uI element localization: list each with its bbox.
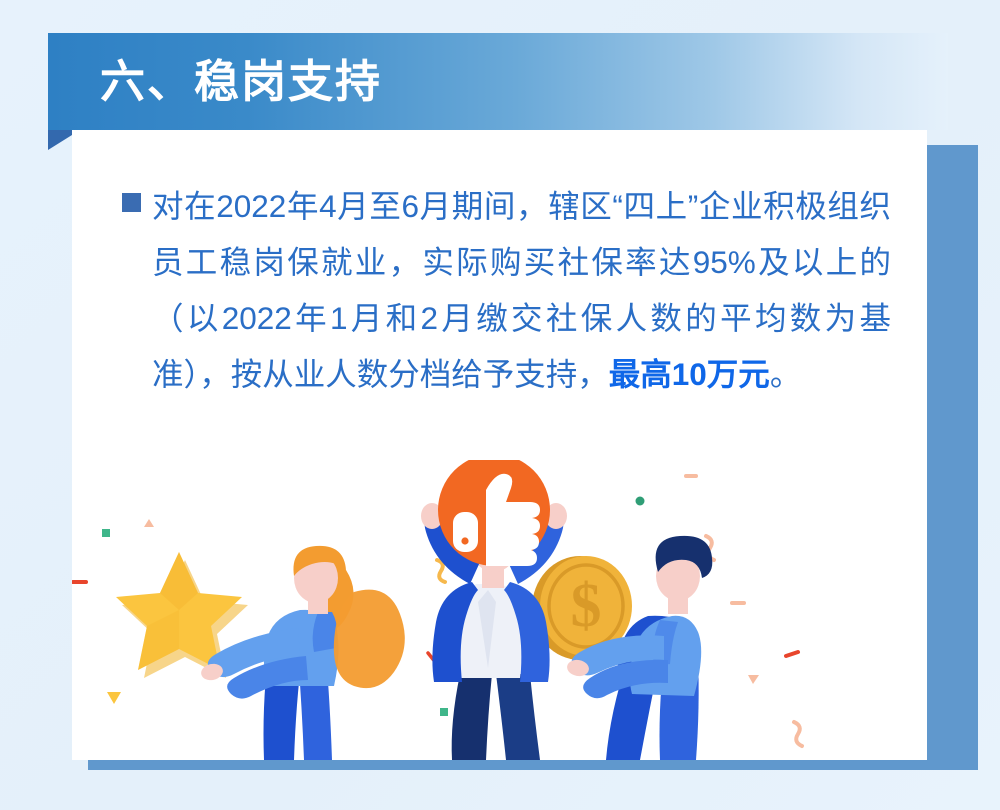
background-hair-blob (334, 590, 405, 689)
person-left-with-star (116, 546, 354, 760)
thumbs-up-cuff-dot (461, 537, 468, 544)
bullet-square-icon (122, 193, 141, 212)
page-title: 六、稳岗支持 (100, 59, 382, 104)
left-person-lapel (313, 612, 338, 652)
confetti-dash-icon (786, 652, 798, 656)
confetti-triangle-icon (107, 692, 121, 704)
confetti-squiggle-icon (794, 722, 802, 746)
policy-paragraph: 对在2022年4月至6月期间，辖区“四上”企业积极组织员工稳岗保就业，实际购买社… (152, 178, 891, 402)
confetti-dot-icon (636, 497, 645, 506)
section-header-banner: 六、稳岗支持 (48, 33, 948, 130)
paragraph-text-trailing: 。 (770, 356, 802, 392)
hair-blob-shape (334, 590, 405, 689)
paragraph-highlight-amount: 最高10万元 (609, 356, 770, 392)
thumbs-up-cuff (453, 512, 478, 552)
coin-dollar-sign: $ (571, 572, 602, 640)
person-right-with-coin: $ (532, 536, 712, 760)
confetti-square-icon (102, 529, 110, 537)
confetti-triangle-icon (748, 675, 759, 684)
celebration-people-illustration: $ (72, 460, 927, 760)
confetti-triangle-icon (144, 519, 154, 527)
confetti-square-icon (440, 708, 448, 716)
center-person-leg-right (496, 674, 540, 760)
poster-page: 六、稳岗支持 对在2022年4月至6月期间，辖区“四上”企业积极组织员工稳岗保就… (0, 0, 1000, 810)
center-person-leg-left (452, 674, 492, 760)
content-block: 对在2022年4月至6月期间，辖区“四上”企业积极组织员工稳岗保就业，实际购买社… (122, 178, 891, 402)
content-card: 对在2022年4月至6月期间，辖区“四上”企业积极组织员工稳岗保就业，实际购买社… (72, 130, 927, 760)
